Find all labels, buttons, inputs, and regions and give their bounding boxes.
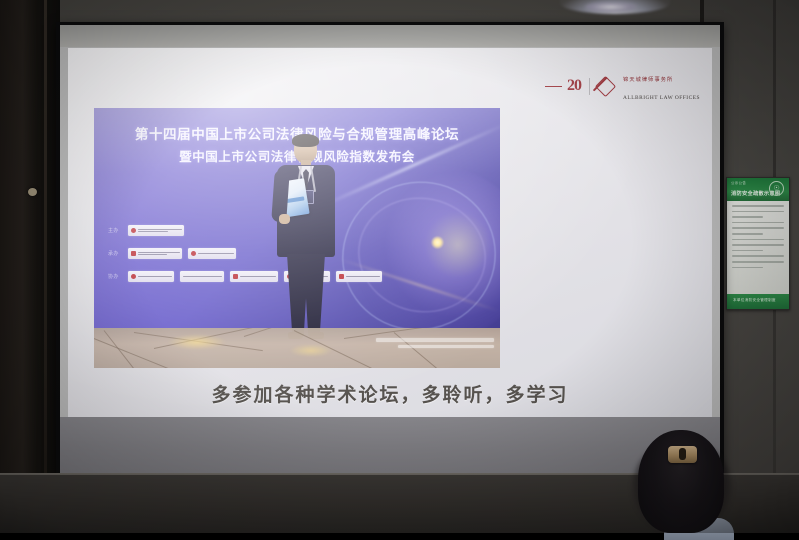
poster-seal-icon: ☉ — [769, 181, 784, 196]
projected-slide: 20 锦天城律师事务所 ALLBRIGHT LAW OFFICES — [68, 48, 712, 417]
logo-wordmark: 锦天城律师事务所 ALLBRIGHT LAW OFFICES — [623, 68, 700, 105]
logo-diamond-icon — [595, 76, 616, 97]
logo-name-cn: 锦天城律师事务所 — [623, 77, 673, 83]
projection-screen-surface: 20 锦天城律师事务所 ALLBRIGHT LAW OFFICES — [60, 47, 720, 477]
poster-text-line — [732, 233, 763, 235]
logo-dash-icon — [545, 86, 562, 87]
photo-projector-haze — [94, 108, 500, 368]
poster-header: 公示公告 消防安全疏散示意图 ☉ — [727, 178, 789, 201]
poster-body-text — [727, 201, 789, 294]
logo-divider — [589, 78, 590, 95]
poster-header-small: 公示公告 — [731, 180, 746, 185]
screen-lower-blank-area — [60, 417, 720, 477]
poster-text-line — [732, 227, 784, 229]
poster-text-line — [732, 205, 784, 207]
audience-member-head — [628, 430, 748, 533]
poster-text-line — [732, 222, 784, 224]
meeting-room-scene: 公示公告 消防安全疏散示意图 ☉ 本单位消防安全管理制度 — [0, 0, 799, 533]
left-wall-edge — [44, 0, 47, 495]
slide-caption: 多参加各种学术论坛，多聆听，多学习 — [68, 380, 712, 407]
ceiling-light-glow — [585, 2, 637, 12]
poster-footer-note: 本单位消防安全管理制度 — [733, 298, 776, 303]
poster-text-line — [732, 216, 763, 218]
logo-name-en: ALLBRIGHT LAW OFFICES — [623, 95, 700, 101]
poster-text-line — [732, 255, 784, 257]
poster-text-line — [732, 267, 763, 269]
logo-diamond-inner-icon — [593, 76, 608, 91]
poster-text-line — [732, 250, 763, 252]
poster-text-line — [732, 261, 784, 263]
conference-photo: 第十四届中国上市公司法律风险与合规管理高峰论坛 暨中国上市公司法律合规风险指数发… — [94, 108, 500, 368]
door-knob[interactable] — [28, 188, 37, 196]
logo-anniversary-number: 20 — [567, 78, 581, 94]
allbright-logo: 20 锦天城律师事务所 ALLBRIGHT LAW OFFICES — [545, 68, 700, 105]
poster-text-line — [732, 239, 784, 241]
poster-footer: 本单位消防安全管理制度 — [727, 294, 789, 309]
poster-text-line — [732, 211, 784, 213]
screen-top-margin — [60, 25, 720, 49]
hair-clip-notch — [679, 448, 686, 460]
wall-poster: 公示公告 消防安全疏散示意图 ☉ 本单位消防安全管理制度 — [726, 177, 790, 310]
left-wall-dark-column — [0, 0, 60, 533]
poster-text-line — [732, 244, 784, 246]
